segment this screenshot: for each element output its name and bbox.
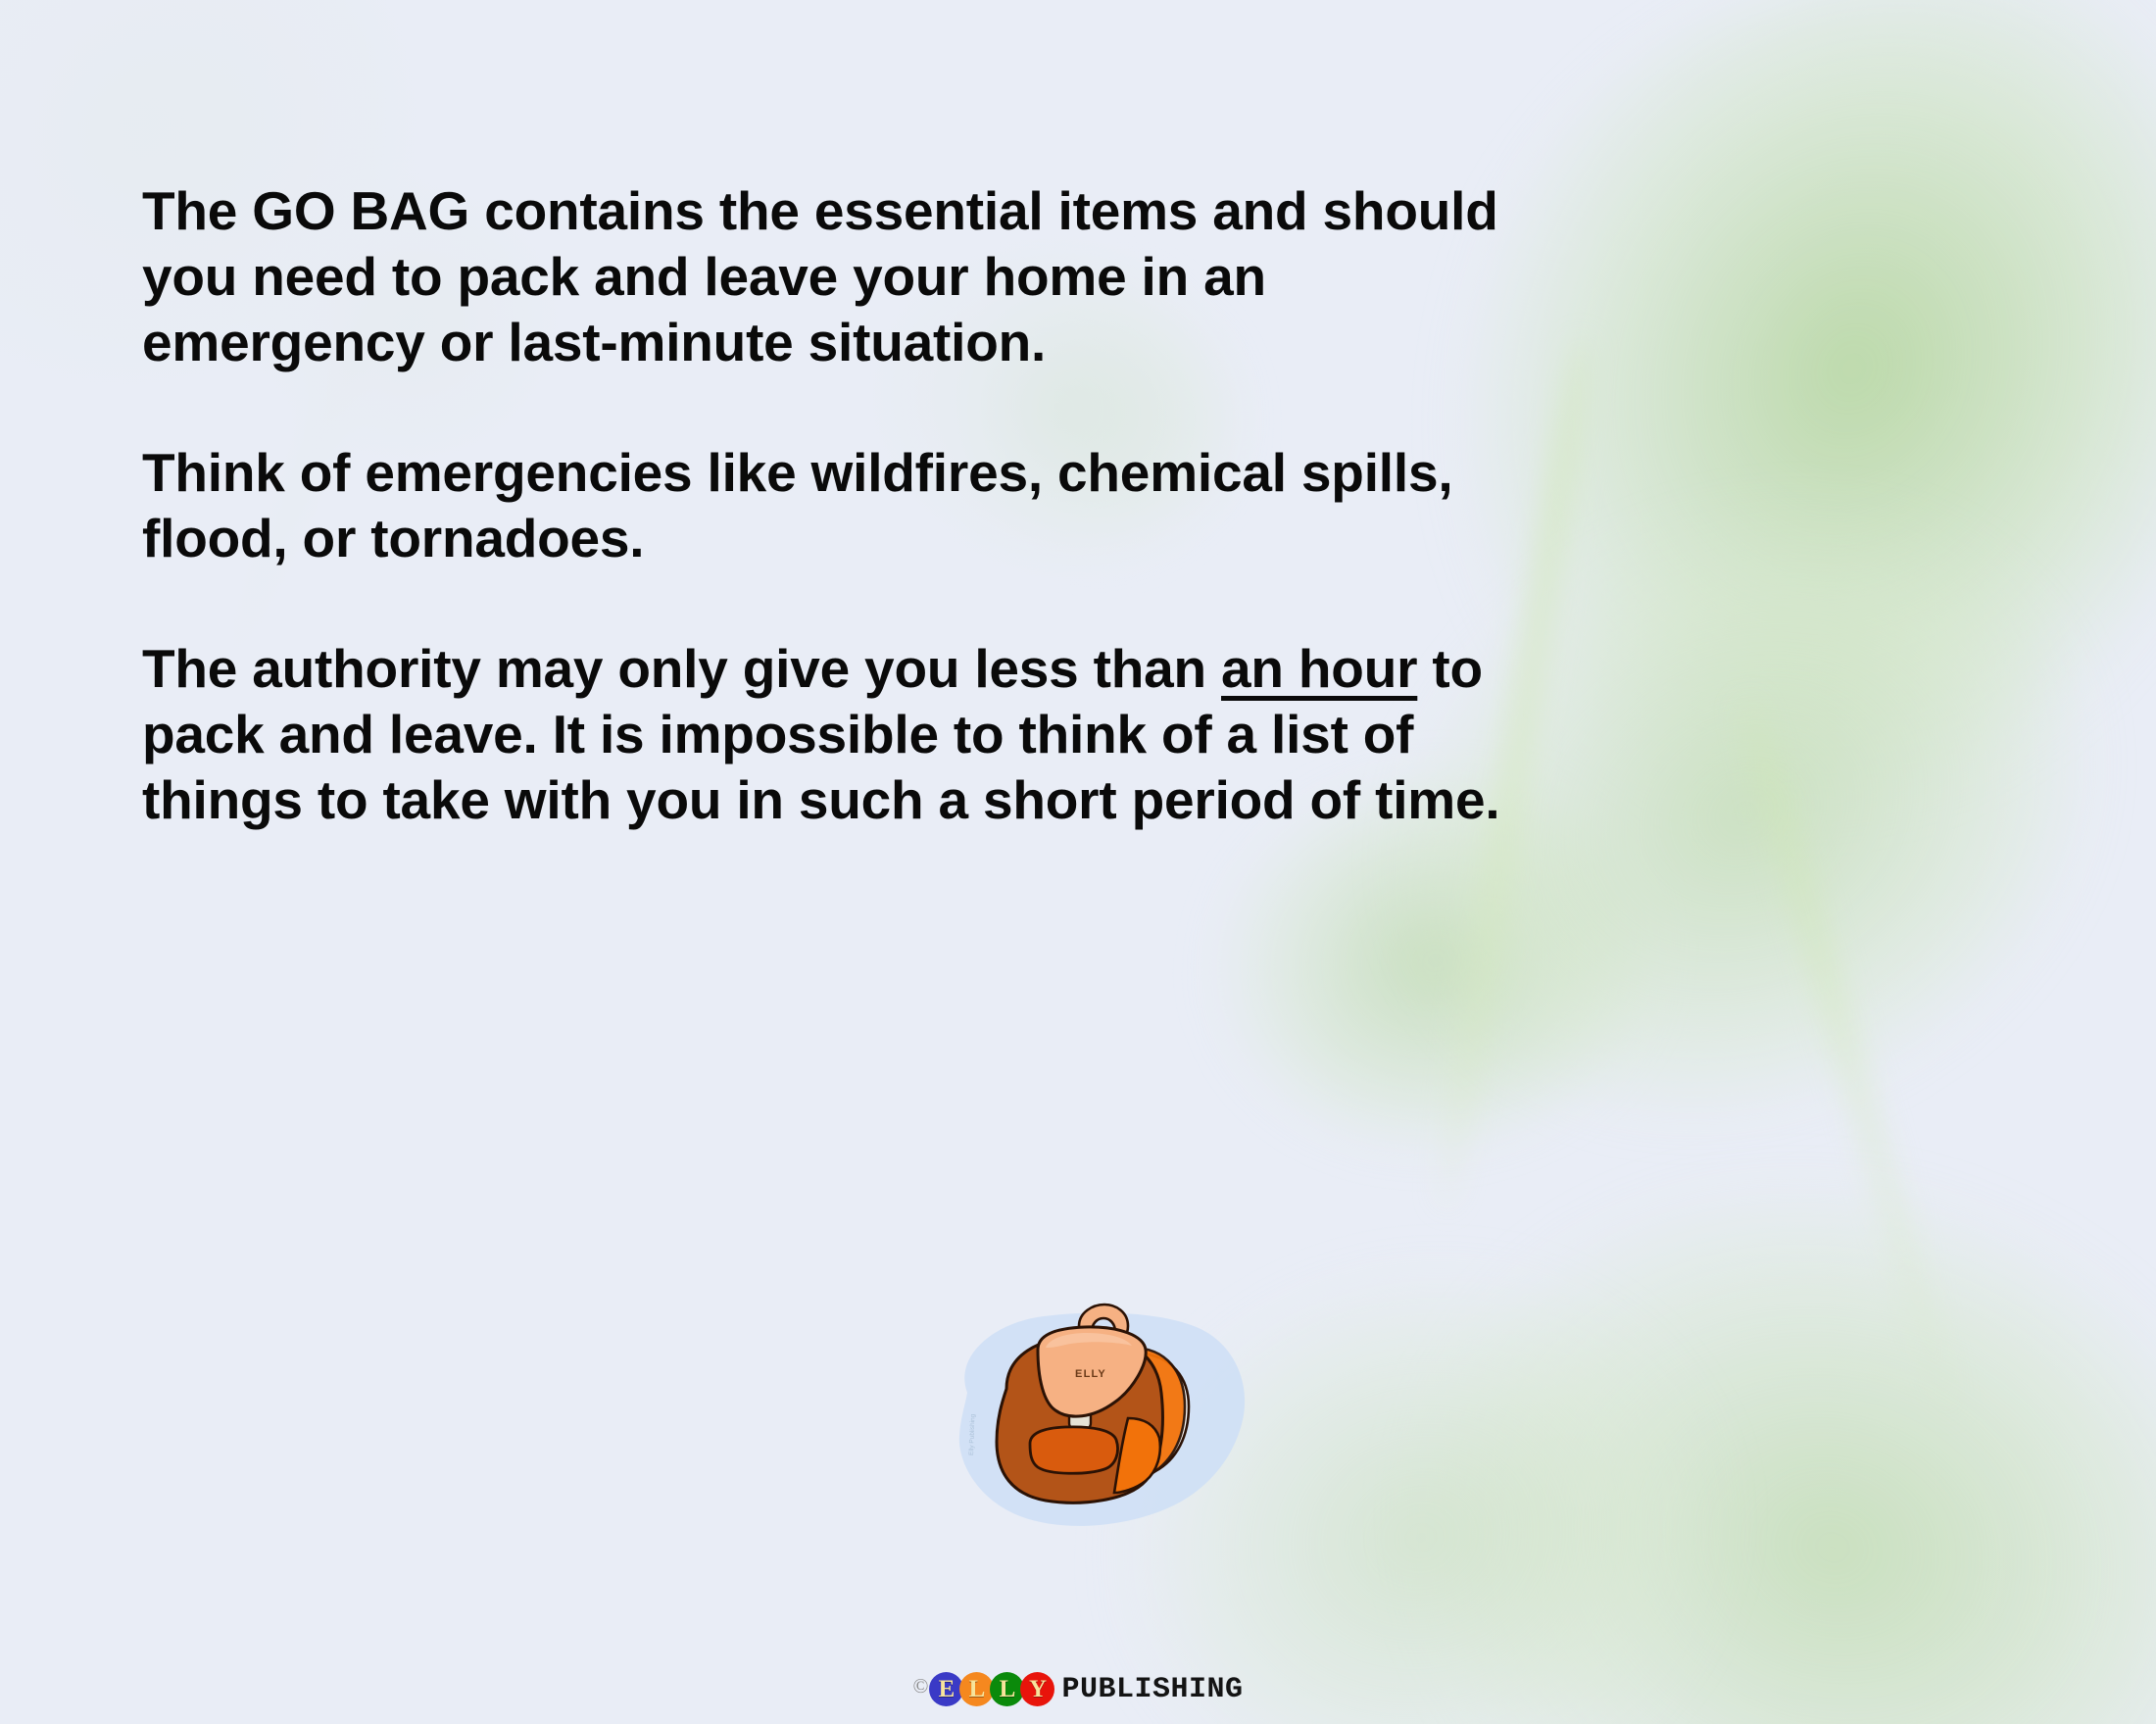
logo-circle-l2: L [990, 1672, 1024, 1706]
logo-circle-y: Y [1020, 1672, 1054, 1706]
leaf-shape-bottom-right [1306, 1068, 2156, 1724]
paragraph-go-bag: The GO BAG contains the essential items … [142, 178, 1534, 375]
paragraph-emergencies: Think of emergencies like wildfires, che… [142, 440, 1534, 571]
logo-circle-e: E [929, 1672, 963, 1706]
backpack-front-pocket [1030, 1427, 1118, 1473]
backpack-icon: Elly Publishing ELLY [936, 1299, 1269, 1544]
backpack-brand-label: ELLY [1075, 1368, 1106, 1380]
copyright-icon: © [913, 1676, 929, 1697]
slide-root: The GO BAG contains the essential items … [0, 0, 2156, 1724]
backpack-watermark-text: Elly Publishing [968, 1413, 976, 1455]
paragraph-authority-lead: The authority may only give you less tha… [142, 638, 1221, 699]
backpack-illustration: Elly Publishing ELLY [936, 1299, 1269, 1544]
logo-circle-l1: L [959, 1672, 994, 1706]
footer-brand-logo: © E L L Y PUBLISHING [0, 1672, 2156, 1706]
paragraph-authority: The authority may only give you less tha… [142, 636, 1558, 833]
logo-letter-circles: E L L Y [929, 1672, 1051, 1706]
emphasis-an-hour: an hour [1221, 638, 1417, 699]
logo-publishing-word: PUBLISHING [1061, 1675, 1243, 1704]
slide-body-text: The GO BAG contains the essential items … [142, 178, 1534, 833]
stem-shape-right-two [1735, 697, 1964, 1420]
